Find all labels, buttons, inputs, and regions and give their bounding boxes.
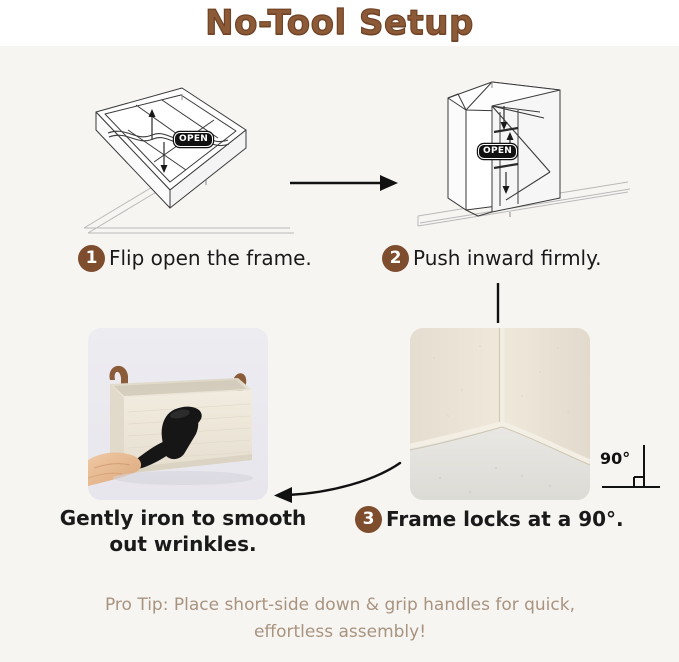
step-2-caption: 2 Push inward firmly. [382, 245, 601, 272]
step-4-caption: Gently iron to smooth out wrinkles. [38, 505, 328, 557]
open-badge-step-1: OPEN [174, 132, 213, 147]
pro-tip-line2: effortless assembly! [254, 622, 426, 642]
page-title: No-Tool Setup [205, 3, 474, 43]
infographic-root: No-Tool Setup [0, 0, 679, 662]
step-2-badge: 2 [382, 245, 409, 272]
pro-tip: Pro Tip: Place short-side down & grip ha… [60, 592, 620, 646]
step-1-label: Flip open the frame. [109, 245, 312, 271]
step-3-label: Frame locks at a 90°. [386, 506, 624, 532]
title-band: No-Tool Setup [0, 0, 679, 46]
step-4-label: Gently iron to smooth out wrinkles. [38, 505, 328, 557]
arrow-step2-to-step3 [491, 283, 505, 325]
step-2-label: Push inward firmly. [413, 245, 601, 271]
step-1-badge: 1 [78, 245, 105, 272]
step-4-label-line2: out wrinkles. [109, 532, 256, 556]
step-4-photo [88, 328, 268, 500]
step-4-label-line1: Gently iron to smooth [60, 506, 307, 530]
step-2-illustration: OPEN [400, 76, 635, 241]
flat-folded-bin-drawing [78, 78, 298, 238]
arrow-step1-to-step2 [288, 168, 403, 198]
bin-corner-photo [410, 328, 590, 500]
step-3-photo [410, 328, 590, 500]
step-3-caption: 3 Frame locks at a 90°. [355, 506, 624, 533]
arrow-step3-to-step4 [270, 455, 410, 510]
angle-marker-90: 90° [600, 443, 662, 495]
bin-pushed-open-drawing [400, 76, 635, 241]
step-3-badge: 3 [355, 506, 382, 533]
step-1-illustration: OPEN [78, 78, 298, 238]
open-badge-step-2: OPEN [478, 144, 517, 159]
pro-tip-line1: Pro Tip: Place short-side down & grip ha… [105, 595, 575, 615]
hand-steaming-bin-photo [88, 328, 268, 500]
step-1-caption: 1 Flip open the frame. [78, 245, 312, 272]
